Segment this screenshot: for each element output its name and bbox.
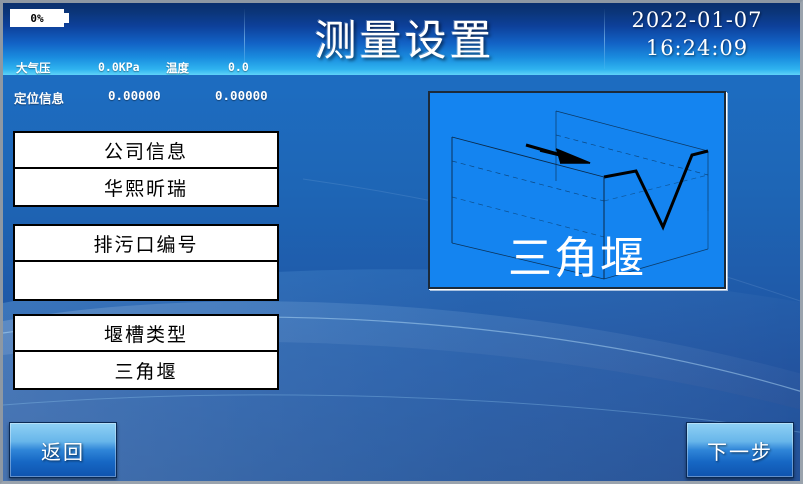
- gps-latitude-value: 0.00000: [108, 88, 161, 103]
- field-group-weir-type: 堰槽类型 三角堰: [13, 314, 279, 390]
- environment-readout: 大气压 0.0KPa 温度 0.0: [3, 60, 800, 75]
- time-label: 16:24:09: [602, 36, 792, 60]
- date-label: 2022-01-07: [602, 8, 792, 32]
- company-info-label: 公司信息: [15, 133, 277, 169]
- field-group-company-info: 公司信息 华熙昕瑞: [13, 131, 279, 207]
- gps-longitude-value: 0.00000: [215, 88, 268, 103]
- outlet-number-input[interactable]: [15, 262, 277, 299]
- pressure-label: 大气压: [16, 60, 51, 75]
- datetime-display: 2022-01-07 16:24:09: [602, 8, 792, 60]
- next-button-label: 下一步: [707, 436, 773, 465]
- field-group-outlet-number: 排污口编号: [13, 224, 279, 301]
- temperature-label: 温度: [166, 60, 189, 75]
- gps-label: 定位信息: [14, 88, 64, 107]
- v-notch-weir-icon: [430, 93, 724, 287]
- back-button-label: 返回: [41, 436, 85, 465]
- weir-type-select[interactable]: 三角堰: [15, 352, 277, 388]
- temperature-value: 0.0: [228, 60, 249, 74]
- back-button[interactable]: 返回: [9, 422, 117, 478]
- app-header: 0% 测量设置 2022-01-07 16:24:09 大气压 0.0KPa 温…: [3, 3, 800, 75]
- weir-type-label: 堰槽类型: [15, 316, 277, 352]
- pressure-value: 0.0KPa: [98, 60, 140, 74]
- next-button[interactable]: 下一步: [686, 422, 794, 478]
- company-info-input[interactable]: 华熙昕瑞: [15, 169, 277, 205]
- outlet-number-label: 排污口编号: [15, 226, 277, 262]
- weir-diagram-panel[interactable]: 三角堰: [428, 91, 726, 289]
- gps-readout: 定位信息 0.00000 0.00000: [3, 88, 423, 108]
- device-screen: 0% 测量设置 2022-01-07 16:24:09 大气压 0.0KPa 温…: [0, 0, 803, 484]
